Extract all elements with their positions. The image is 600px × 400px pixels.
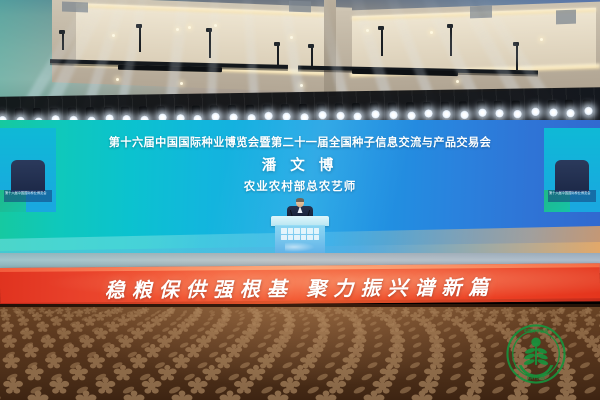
light-hanger (311, 46, 313, 68)
speaker-name: 潘 文 博 (0, 154, 600, 175)
light-hanger-head (513, 42, 519, 46)
light-hanger (139, 26, 141, 52)
light-hanger-head (59, 30, 65, 34)
event-title: 第十六届中国国际种业博览会暨第二十一届全国种子信息交流与产品交易会 (0, 134, 600, 150)
spotlight-housing (139, 106, 147, 115)
speaker-role: 农业农村部总农艺师 (0, 178, 600, 194)
spotlight-housing (246, 105, 254, 114)
spotlight-housing (299, 104, 307, 113)
ceiling-downlight (430, 31, 433, 34)
podium-logo (285, 242, 315, 252)
watermark-bottom-text: CATSSA (527, 375, 546, 380)
podium-panel-cell (314, 235, 320, 241)
ceiling-downlight (456, 80, 459, 83)
podium-panel-cell (301, 228, 307, 234)
light-hanger-head (378, 26, 384, 30)
light-hanger-head (274, 42, 280, 46)
ceiling-downlight (116, 78, 119, 81)
spotlight (407, 111, 416, 120)
podium (271, 198, 329, 260)
spotlight-housing (512, 101, 520, 110)
podium-panel-cell (281, 228, 287, 234)
podium-body (275, 225, 325, 255)
podium-panel-cell (307, 228, 313, 234)
spotlight (478, 108, 487, 117)
ceiling-downlight (188, 26, 191, 29)
spotlight (531, 107, 540, 116)
ceiling-downlight (540, 38, 543, 41)
spotlight (389, 110, 398, 119)
spotlight-housing (565, 100, 573, 109)
light-hanger (277, 44, 279, 66)
watermark-top-text: 中国种子协会 (524, 327, 549, 333)
light-hanger-head (136, 24, 142, 28)
light-hanger (381, 28, 383, 56)
ceiling-downlight (214, 24, 217, 27)
ceiling-vent (62, 2, 88, 13)
podium-front-panel (281, 228, 319, 240)
ceiling-downlight (366, 29, 369, 32)
watermark-logo: CATSSA 中国种子协会 (505, 323, 567, 385)
spotlight-housing (352, 103, 360, 112)
ceiling-vent (470, 6, 492, 19)
light-hanger (450, 26, 452, 56)
ceiling-downlight (290, 36, 293, 39)
spotlight-housing (459, 101, 467, 110)
light-hanger (62, 32, 64, 50)
podium-panel-cell (307, 235, 313, 241)
spotlight-housing (405, 102, 413, 111)
podium-panel-cell (314, 228, 320, 234)
spotlight-housing (192, 106, 200, 115)
ceiling-vent (289, 1, 311, 13)
spotlight-housing (86, 107, 94, 116)
podium-panel-cell (288, 235, 294, 241)
ceiling-centre-seam (324, 0, 336, 96)
spotlight (318, 111, 327, 120)
stage-front-banner: 稳粮保供强根基 聚力振兴谱新篇 (0, 263, 600, 306)
speaker-hair (296, 198, 304, 202)
spotlight (549, 108, 558, 117)
ceiling-downlight (180, 82, 183, 85)
ceiling-downlight (176, 28, 179, 31)
light-hanger-head (206, 28, 212, 32)
light-hanger (209, 30, 211, 58)
light-hanger-head (447, 24, 453, 28)
light-hanger (516, 44, 518, 70)
podium-panel-cell (294, 228, 300, 234)
podium-panel-cell (301, 235, 307, 241)
podium-panel-cell (281, 235, 287, 241)
ceiling-downlight (112, 34, 115, 37)
podium-panel-cell (294, 235, 300, 241)
ceiling-vent (556, 10, 576, 25)
spotlight (460, 110, 469, 119)
conference-stage-photo: 第十六届中国国际种业博览会 第十六届中国国际种业博览会 第十六届中国国际种业博览… (0, 0, 600, 400)
podium-panel-cell (288, 228, 294, 234)
ceiling-downlight (300, 84, 303, 87)
light-hanger-head (308, 44, 314, 48)
spotlight-housing (32, 108, 40, 117)
